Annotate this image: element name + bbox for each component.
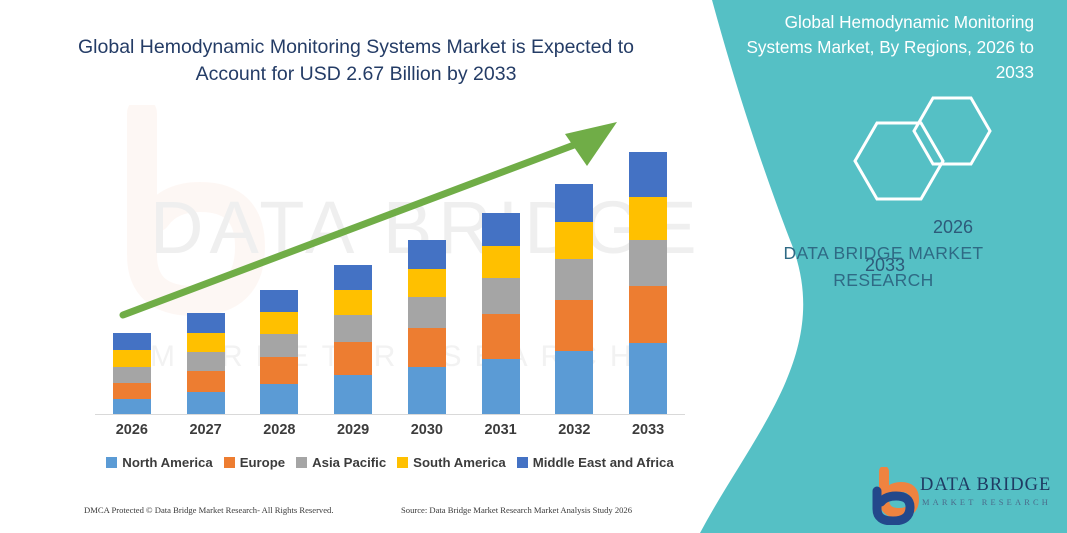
bar-segment bbox=[187, 371, 225, 392]
bar-segment bbox=[482, 213, 520, 246]
bar-segment bbox=[629, 286, 667, 343]
footer-copyright: DMCA Protected © Data Bridge Market Rese… bbox=[84, 505, 334, 515]
teal-panel-shape bbox=[660, 0, 1067, 533]
footer-source: Source: Data Bridge Market Research Mark… bbox=[401, 505, 632, 515]
bar-segment bbox=[334, 265, 372, 290]
stacked-bar bbox=[334, 265, 372, 415]
legend-swatch bbox=[224, 457, 235, 468]
bar-segment bbox=[482, 359, 520, 415]
legend-label: Asia Pacific bbox=[312, 455, 386, 470]
stacked-bar bbox=[260, 290, 298, 415]
legend-swatch bbox=[106, 457, 117, 468]
bar-segment bbox=[260, 290, 298, 312]
bar-column bbox=[397, 120, 457, 415]
bar-segment bbox=[260, 334, 298, 357]
infographic-slide: DATA BRIDGE MARKET RESEARCH Global Hemod… bbox=[0, 0, 1067, 533]
bar-segment bbox=[187, 392, 225, 415]
bar-segment bbox=[260, 312, 298, 334]
bar-column bbox=[249, 120, 309, 415]
x-axis-tick-label: 2032 bbox=[544, 422, 604, 438]
bar-segment bbox=[113, 383, 151, 399]
bar-segment bbox=[555, 259, 593, 300]
bar-segment bbox=[629, 240, 667, 286]
legend-item: Asia Pacific bbox=[296, 455, 386, 470]
bar-segment bbox=[187, 333, 225, 352]
x-axis-tick-label: 2027 bbox=[176, 422, 236, 438]
bar-segment bbox=[334, 342, 372, 375]
bar-segment bbox=[555, 222, 593, 259]
legend-swatch bbox=[397, 457, 408, 468]
chart-legend: North AmericaEuropeAsia PacificSouth Ame… bbox=[95, 455, 685, 470]
bar-segment bbox=[408, 297, 446, 328]
bar-segment bbox=[334, 290, 372, 315]
bar-segment bbox=[113, 333, 151, 350]
plot-area bbox=[95, 120, 685, 415]
chart-panel: Global Hemodynamic Monitoring Systems Ma… bbox=[0, 0, 712, 533]
bar-segment bbox=[408, 240, 446, 269]
bar-segment bbox=[555, 184, 593, 222]
legend-item: South America bbox=[397, 455, 506, 470]
x-axis-tick-label: 2029 bbox=[323, 422, 383, 438]
legend-item: Middle East and Africa bbox=[517, 455, 674, 470]
bar-segment bbox=[482, 246, 520, 278]
legend-swatch bbox=[296, 457, 307, 468]
bar-segment bbox=[113, 350, 151, 367]
bar-column bbox=[323, 120, 383, 415]
legend-label: Middle East and Africa bbox=[533, 455, 674, 470]
bar-column bbox=[102, 120, 162, 415]
bar-segment bbox=[482, 278, 520, 314]
legend-label: Europe bbox=[240, 455, 285, 470]
x-axis-tick-label: 2031 bbox=[471, 422, 531, 438]
bar-segment bbox=[334, 315, 372, 342]
bar-segment bbox=[260, 357, 298, 384]
stacked-bar bbox=[187, 313, 225, 415]
stacked-bar bbox=[113, 333, 151, 415]
legend-label: South America bbox=[413, 455, 506, 470]
legend-label: North America bbox=[122, 455, 212, 470]
x-axis-tick-label: 2028 bbox=[249, 422, 309, 438]
bar-segment bbox=[408, 367, 446, 415]
bar-segment bbox=[555, 300, 593, 351]
legend-swatch bbox=[517, 457, 528, 468]
bar-segment bbox=[555, 351, 593, 415]
chart-title: Global Hemodynamic Monitoring Systems Ma… bbox=[56, 34, 656, 88]
bar-segment bbox=[187, 352, 225, 371]
x-axis-tick-label: 2026 bbox=[102, 422, 162, 438]
bar-group bbox=[95, 120, 685, 415]
bar-segment bbox=[408, 328, 446, 367]
x-axis-labels: 20262027202820292030203120322033 bbox=[95, 422, 685, 438]
bar-segment bbox=[334, 375, 372, 415]
bar-column bbox=[544, 120, 604, 415]
bar-segment bbox=[629, 152, 667, 197]
bar-segment bbox=[260, 384, 298, 415]
bar-segment bbox=[482, 314, 520, 359]
stacked-bar bbox=[408, 240, 446, 415]
bar-segment bbox=[113, 399, 151, 415]
bar-segment bbox=[629, 197, 667, 240]
x-axis-line bbox=[95, 414, 685, 415]
stacked-bar bbox=[629, 152, 667, 415]
bar-column bbox=[471, 120, 531, 415]
bar-segment bbox=[187, 313, 225, 333]
legend-item: North America bbox=[106, 455, 212, 470]
bar-segment bbox=[113, 367, 151, 383]
bar-column bbox=[176, 120, 236, 415]
x-axis-tick-label: 2033 bbox=[618, 422, 678, 438]
stacked-bar bbox=[555, 184, 593, 415]
stacked-bar bbox=[482, 213, 520, 415]
bar-segment bbox=[408, 269, 446, 297]
bar-column bbox=[618, 120, 678, 415]
x-axis-tick-label: 2030 bbox=[397, 422, 457, 438]
bar-segment bbox=[629, 343, 667, 415]
legend-item: Europe bbox=[224, 455, 285, 470]
